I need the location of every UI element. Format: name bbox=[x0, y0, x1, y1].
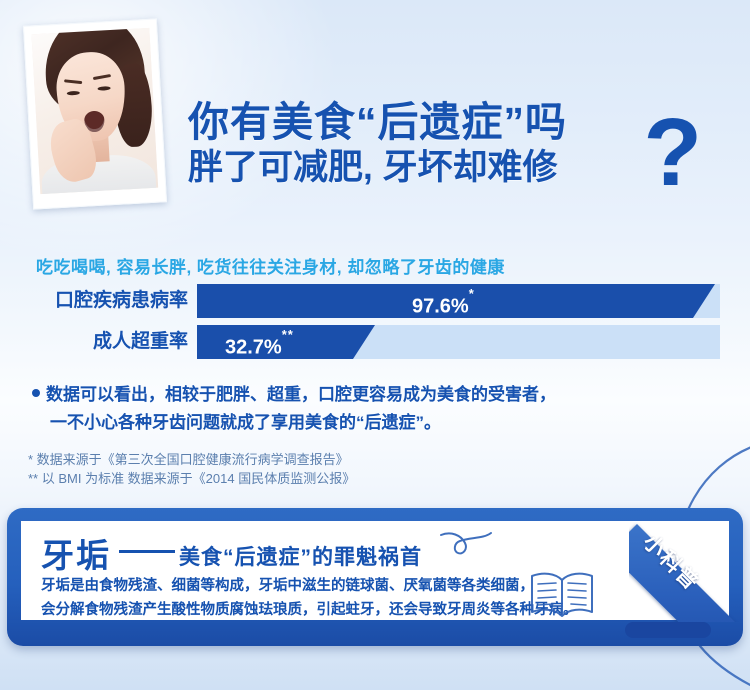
card-title-dash bbox=[119, 550, 175, 553]
card-title-sub: 美食“后遗症”的罪魁祸首 bbox=[179, 546, 422, 569]
subtitle: 吃吃喝喝, 容易长胖, 吃货往往关注身材, 却忽略了牙齿的健康 bbox=[36, 253, 505, 278]
statistics-bar-chart: 口腔疾病患病率 97.6%* 成人超重率 32.7%** bbox=[0, 284, 750, 366]
conclusion-note: 数据可以看出，相较于肥胖、超重，口腔更容易成为美食的受害者， 一不小心各种牙齿问… bbox=[32, 381, 732, 437]
footnote-1: * 数据来源于《第三次全国口腔健康流行病学调查报告》 bbox=[28, 450, 355, 469]
conclusion-note-line-2: 一不小心各种牙齿问题就成了享用美食的“后遗症”。 bbox=[32, 409, 732, 437]
card-body-line-2: 会分解食物残渣产生酸性物质腐蚀珐琅质，引起蛀牙，还会导致牙周炎等各种牙病。 bbox=[41, 598, 578, 620]
footnotes: * 数据来源于《第三次全国口腔健康流行病学调查报告》 ** 以 BMI 为标准 … bbox=[28, 450, 355, 488]
toothache-photo bbox=[31, 28, 158, 194]
bar-value-adult-overweight: 32.7%** bbox=[225, 325, 294, 359]
card-title: 牙垢美食“后遗症”的罪魁祸首 bbox=[41, 529, 422, 577]
bar-label-adult-overweight: 成人超重率 bbox=[0, 325, 188, 359]
headline: 你有美食“后遗症”吗 胖了可减肥, 牙坏却难修 ? bbox=[188, 99, 748, 189]
conclusion-note-line-1: 数据可以看出，相较于肥胖、超重，口腔更容易成为美食的受害者， bbox=[32, 381, 732, 409]
card-title-main: 牙垢 bbox=[41, 537, 111, 574]
bullet-dot-icon bbox=[32, 389, 40, 397]
bar-value-text-adult-overweight: 32.7% bbox=[225, 337, 282, 359]
bar-row-adult-overweight: 成人超重率 32.7%** bbox=[0, 325, 750, 359]
toothache-photo-frame bbox=[23, 18, 167, 209]
knowledge-card-inner: 牙垢美食“后遗症”的罪魁祸首 牙垢是由食物残渣、细菌等构成，牙垢中滋生的链球菌、… bbox=[21, 521, 729, 620]
open-book-icon bbox=[529, 569, 595, 620]
bar-label-oral-disease: 口腔疾病患病率 bbox=[0, 284, 188, 318]
conclusion-note-text-1: 数据可以看出，相较于肥胖、超重，口腔更容易成为美食的受害者， bbox=[46, 385, 556, 404]
bar-row-oral-disease: 口腔疾病患病率 97.6%* bbox=[0, 284, 750, 318]
question-mark-icon: ? bbox=[643, 105, 702, 201]
bar-track-adult-overweight: 32.7%** bbox=[197, 325, 720, 359]
infographic-poster: 你有美食“后遗症”吗 胖了可减肥, 牙坏却难修 ? 吃吃喝喝, 容易长胖, 吃货… bbox=[0, 0, 750, 690]
knowledge-card: 牙垢美食“后遗症”的罪魁祸首 牙垢是由食物残渣、细菌等构成，牙垢中滋生的链球菌、… bbox=[7, 508, 743, 646]
bar-footnote-marker-oral-disease: * bbox=[469, 286, 475, 301]
card-body-line-1: 牙垢是由食物残渣、细菌等构成，牙垢中滋生的链球菌、厌氧菌等各类细菌， bbox=[41, 574, 578, 598]
bar-value-text-oral-disease: 97.6% bbox=[412, 296, 469, 318]
bar-value-oral-disease: 97.6%* bbox=[412, 284, 475, 318]
swirl-icon bbox=[439, 529, 493, 563]
card-bottom-pill bbox=[625, 622, 711, 638]
bar-footnote-marker-adult-overweight: ** bbox=[282, 327, 294, 342]
card-body: 牙垢是由食物残渣、细菌等构成，牙垢中滋生的链球菌、厌氧菌等各类细菌， 会分解食物… bbox=[41, 574, 578, 620]
bar-track-oral-disease: 97.6%* bbox=[197, 284, 720, 318]
footnote-2: ** 以 BMI 为标准 数据来源于《2014 国民体质监测公报》 bbox=[28, 469, 355, 488]
